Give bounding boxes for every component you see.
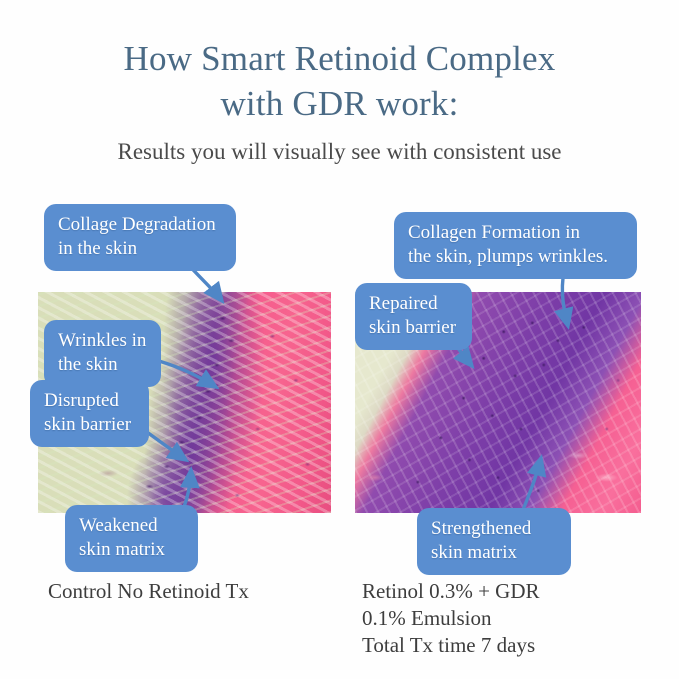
page-title-line-2: with GDR work: (0, 81, 679, 126)
callout-collagen-formation: Collagen Formation in the skin, plumps w… (394, 212, 637, 279)
page-subtitle: Results you will visually see with consi… (0, 137, 679, 167)
callout-collagen-degradation: Collage Degradation in the skin (44, 204, 236, 271)
callout-weakened-skin-matrix: Weakened skin matrix (65, 505, 198, 572)
control-panel-caption: Control No Retinoid Tx (48, 578, 249, 605)
callout-wrinkles: Wrinkles in the skin (44, 320, 161, 387)
page-title: How Smart Retinoid Complex with GDR work… (0, 36, 679, 126)
page-title-line-1: How Smart Retinoid Complex (0, 36, 679, 81)
callout-strengthened-skin-matrix: Strengthened skin matrix (417, 508, 571, 575)
treated-panel-caption: Retinol 0.3% + GDR 0.1% Emulsion Total T… (362, 578, 540, 659)
callout-repaired-skin-barrier: Repaired skin barrier (355, 283, 472, 350)
infographic-root: How Smart Retinoid Complex with GDR work… (0, 0, 679, 679)
callout-disrupted-skin-barrier: Disrupted skin barrier (30, 380, 149, 447)
